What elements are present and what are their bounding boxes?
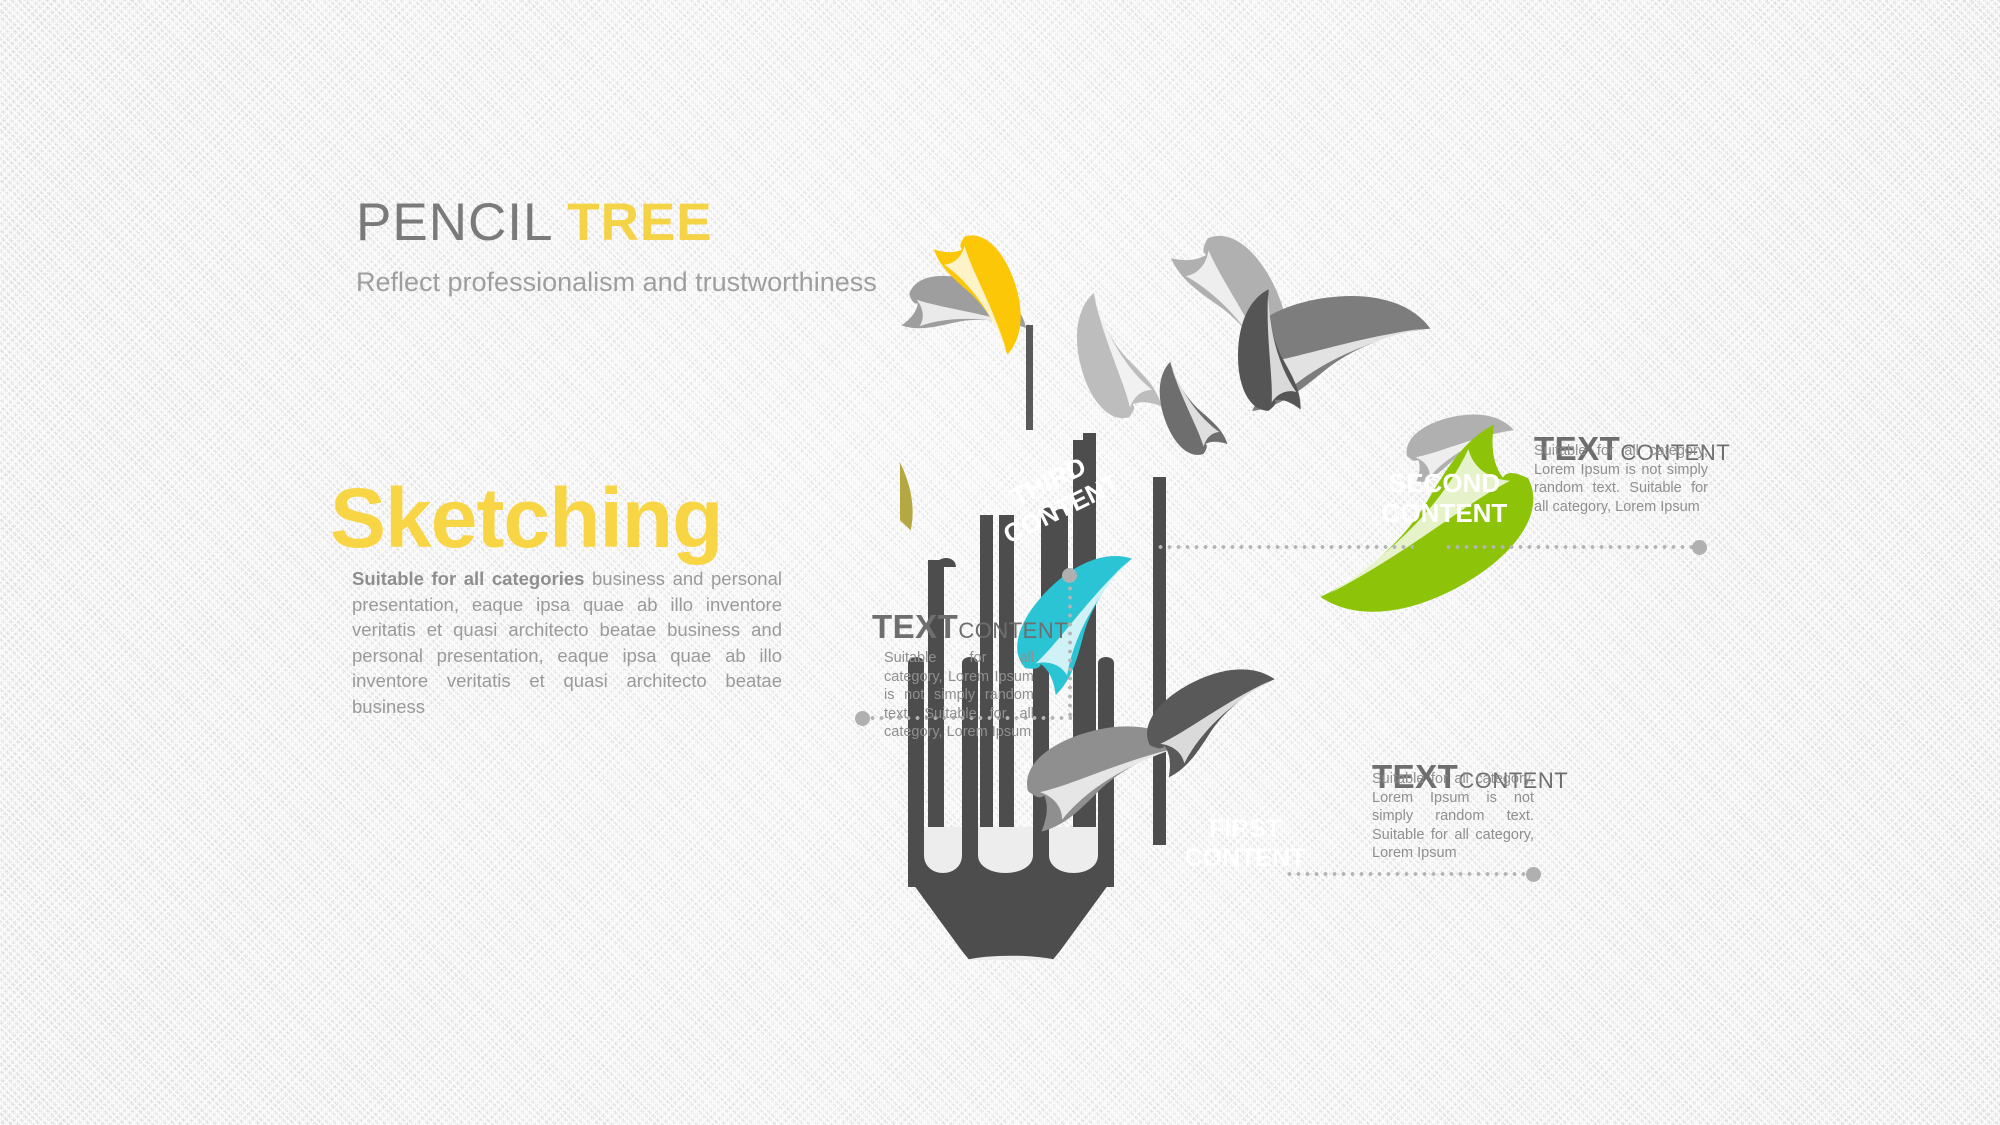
callout-left-body: Suitable for all category, Lorem Ipsum i… <box>884 649 1034 742</box>
page-subtitle: Reflect professionalism and trustworthin… <box>356 267 877 298</box>
connector-line-second <box>1444 545 1698 549</box>
intro-paragraph-rest: business and personal presentation, eaqu… <box>352 568 782 717</box>
intro-paragraph-strong: Suitable for all categories <box>352 568 584 589</box>
callout-topright-body: Suitable for all category, Lorem Ipsum i… <box>1534 442 1708 516</box>
callout-first-content: TEXTCONTENT Suitable for all category, L… <box>1372 762 1536 863</box>
connector-dot-first-end <box>1526 867 1541 882</box>
page-title: PENCIL TREE <box>356 192 877 253</box>
leaf-gray-left-pale <box>1064 284 1162 426</box>
callout-second-content: TEXTCONTENT Suitable for all category, L… <box>1534 434 1710 516</box>
connector-line-third-vertical <box>1068 584 1072 718</box>
callout-bottomright-body: Suitable for all category, Lorem Ipsum i… <box>1372 770 1534 863</box>
callout-left-title-big: TEXT <box>872 608 958 645</box>
intro-paragraph: Suitable for all categories business and… <box>352 566 782 719</box>
page-title-accent: TREE <box>567 193 712 252</box>
page-title-plain: PENCIL <box>356 193 567 252</box>
yellow-leaf-stem <box>1026 325 1033 430</box>
connector-dot-third-top <box>1062 568 1077 583</box>
connector-line-second-inner <box>1156 545 1414 549</box>
leaf-olive-third <box>900 321 949 588</box>
callout-third-content: TEXTCONTENT Suitable for all category, L… <box>862 608 1034 742</box>
callout-left-title-small: CONTENT <box>958 618 1068 643</box>
callout-left-title: TEXTCONTENT <box>872 608 1034 646</box>
section-heading: Sketching <box>330 470 722 567</box>
connector-line-first <box>1285 872 1540 876</box>
title-block: PENCIL TREE Reflect professionalism and … <box>356 192 877 298</box>
connector-dot-second-end <box>1692 540 1707 555</box>
leaf-gray-mid-small <box>1148 353 1228 462</box>
